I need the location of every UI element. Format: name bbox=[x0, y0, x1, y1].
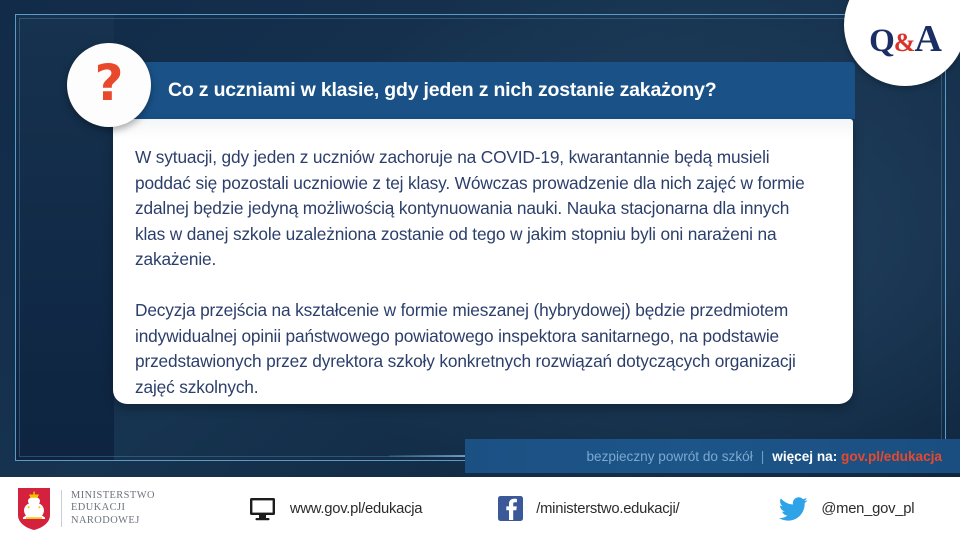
ministry-line-2: EDUKACJI bbox=[71, 502, 155, 515]
ministry-name: MINISTERSTWO EDUKACJI NARODOWEJ bbox=[61, 490, 155, 528]
banner-link[interactable]: gov.pl/edukacja bbox=[841, 449, 942, 464]
polish-eagle-coat-of-arms-icon bbox=[16, 487, 52, 531]
question-header-bar: Co z uczniami w klasie, gdy jeden z nich… bbox=[118, 62, 855, 119]
monitor-icon bbox=[249, 497, 276, 521]
answer-paragraph-1: W sytuacji, gdy jeden z uczniów zachoruj… bbox=[135, 145, 823, 273]
slide-canvas: Q&A ? Co z uczniami w klasie, gdy jeden … bbox=[0, 0, 960, 540]
answer-paragraph-2: Decyzja przejścia na kształcenie w formi… bbox=[135, 298, 823, 400]
answer-card: W sytuacji, gdy jeden z uczniów zachoruj… bbox=[113, 119, 853, 404]
facebook-link[interactable]: /ministerstwo.edukacji/ bbox=[498, 496, 679, 521]
twitter-link[interactable]: @men_gov_pl bbox=[779, 496, 914, 521]
footer-bar: MINISTERSTWO EDUKACJI NARODOWEJ www.gov.… bbox=[0, 477, 960, 540]
facebook-label: /ministerstwo.edukacji/ bbox=[536, 501, 679, 517]
banner-rule bbox=[389, 455, 465, 457]
facebook-icon bbox=[498, 496, 523, 521]
campaign-slogan: bezpieczny powrót do szkół bbox=[586, 449, 752, 464]
question-mark-icon: ? bbox=[94, 58, 123, 108]
ministry-line-1: MINISTERSTWO bbox=[71, 490, 155, 503]
twitter-bird-icon bbox=[779, 496, 808, 521]
qa-logo-text: Q&A bbox=[844, 20, 960, 58]
qa-logo-q: Q bbox=[869, 23, 894, 59]
campaign-banner: bezpieczny powrót do szkół | więcej na: … bbox=[465, 439, 960, 473]
qa-logo-ampersand: & bbox=[894, 28, 915, 57]
website-label: www.gov.pl/edukacja bbox=[290, 501, 422, 517]
qa-logo-a: A bbox=[914, 18, 940, 60]
website-link[interactable]: www.gov.pl/edukacja bbox=[249, 497, 422, 521]
question-mark-badge: ? bbox=[67, 43, 151, 127]
banner-divider: | bbox=[761, 449, 765, 464]
ministry-line-3: NARODOWEJ bbox=[71, 515, 155, 528]
ministry-branding: MINISTERSTWO EDUKACJI NARODOWEJ bbox=[0, 487, 155, 531]
twitter-label: @men_gov_pl bbox=[821, 501, 914, 517]
question-title: Co z uczniami w klasie, gdy jeden z nich… bbox=[168, 79, 716, 102]
banner-more-label: więcej na: bbox=[772, 449, 837, 464]
